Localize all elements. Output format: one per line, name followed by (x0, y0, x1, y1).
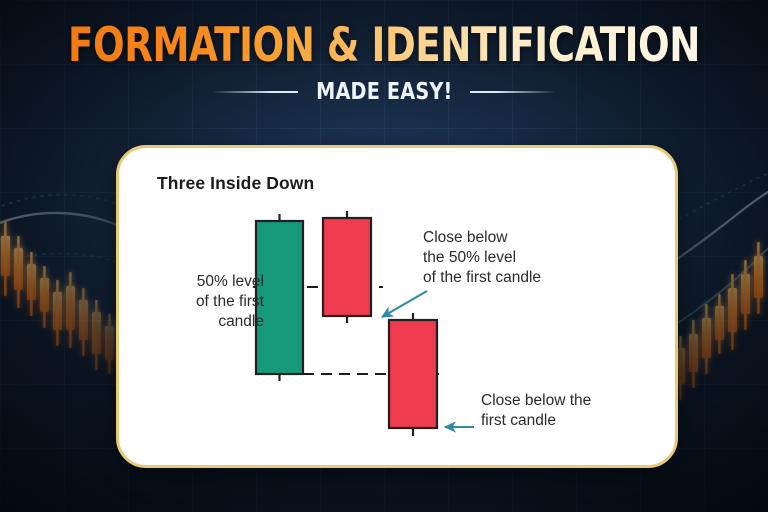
subtitle-row: MADE EASY! (0, 79, 768, 105)
screenshot-stage: FORMATION & IDENTIFICATION MADE EASY! Th… (0, 0, 768, 512)
subtitle-rule-right (470, 91, 556, 93)
arrow-close-below-fifty (382, 291, 427, 317)
candle-second-bearish (323, 211, 371, 323)
candle-third-bearish (389, 313, 437, 436)
page-subtitle: MADE EASY! (316, 79, 452, 105)
pattern-card: Three Inside Down (116, 145, 678, 468)
label-close-below-first: Close below the first candle (481, 391, 641, 431)
page-title: FORMATION & IDENTIFICATION (46, 22, 722, 69)
label-close-below-fifty: Close below the 50% level of the first c… (423, 228, 613, 288)
header: FORMATION & IDENTIFICATION MADE EASY! (0, 22, 768, 105)
label-fifty-percent-level: 50% level of the first candle (144, 272, 264, 332)
subtitle-rule-left (212, 91, 298, 93)
